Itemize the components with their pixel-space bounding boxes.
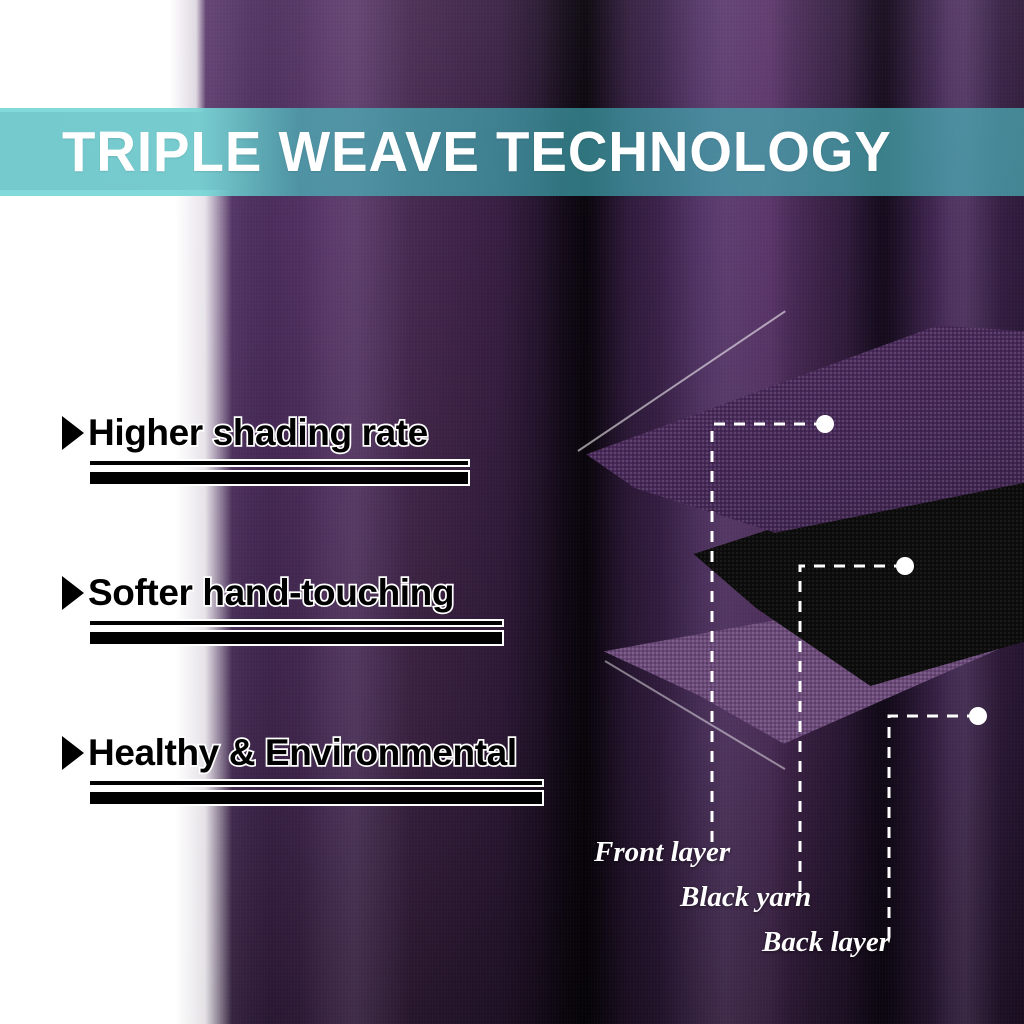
product-infographic: Front layer Black yarn Back layer TRIPLE… [0, 0, 1024, 1024]
underline-thin-rule [90, 621, 502, 625]
underline-thin-rule [90, 781, 542, 785]
feature-underline [90, 781, 542, 804]
triangle-bullet-icon [62, 576, 84, 610]
underline-thick-rule [90, 792, 542, 804]
feature-label: Healthy & Environmental [88, 732, 517, 774]
front-layer-label: Front layer [594, 836, 730, 869]
banner-title: TRIPLE WEAVE TECHNOLOGY [62, 124, 892, 181]
black-yarn-label: Black yarn [680, 881, 811, 914]
feature-list: Higher shading rate Softer hand-touching… [62, 412, 602, 892]
feature-item-healthy-environmental: Healthy & Environmental [62, 732, 602, 804]
feature-underline [90, 621, 502, 644]
feature-item-higher-shading-rate: Higher shading rate [62, 412, 602, 484]
underline-thick-rule [90, 472, 468, 484]
feature-underline [90, 461, 468, 484]
triangle-bullet-icon [62, 416, 84, 450]
underline-thin-rule [90, 461, 468, 465]
banner: TRIPLE WEAVE TECHNOLOGY [0, 108, 1024, 196]
triangle-bullet-icon [62, 736, 84, 770]
underline-thick-rule [90, 632, 502, 644]
feature-label: Softer hand-touching [88, 572, 454, 614]
back-layer-label: Back layer [762, 926, 890, 959]
feature-label: Higher shading rate [88, 412, 428, 454]
feature-item-softer-hand-touching: Softer hand-touching [62, 572, 602, 644]
